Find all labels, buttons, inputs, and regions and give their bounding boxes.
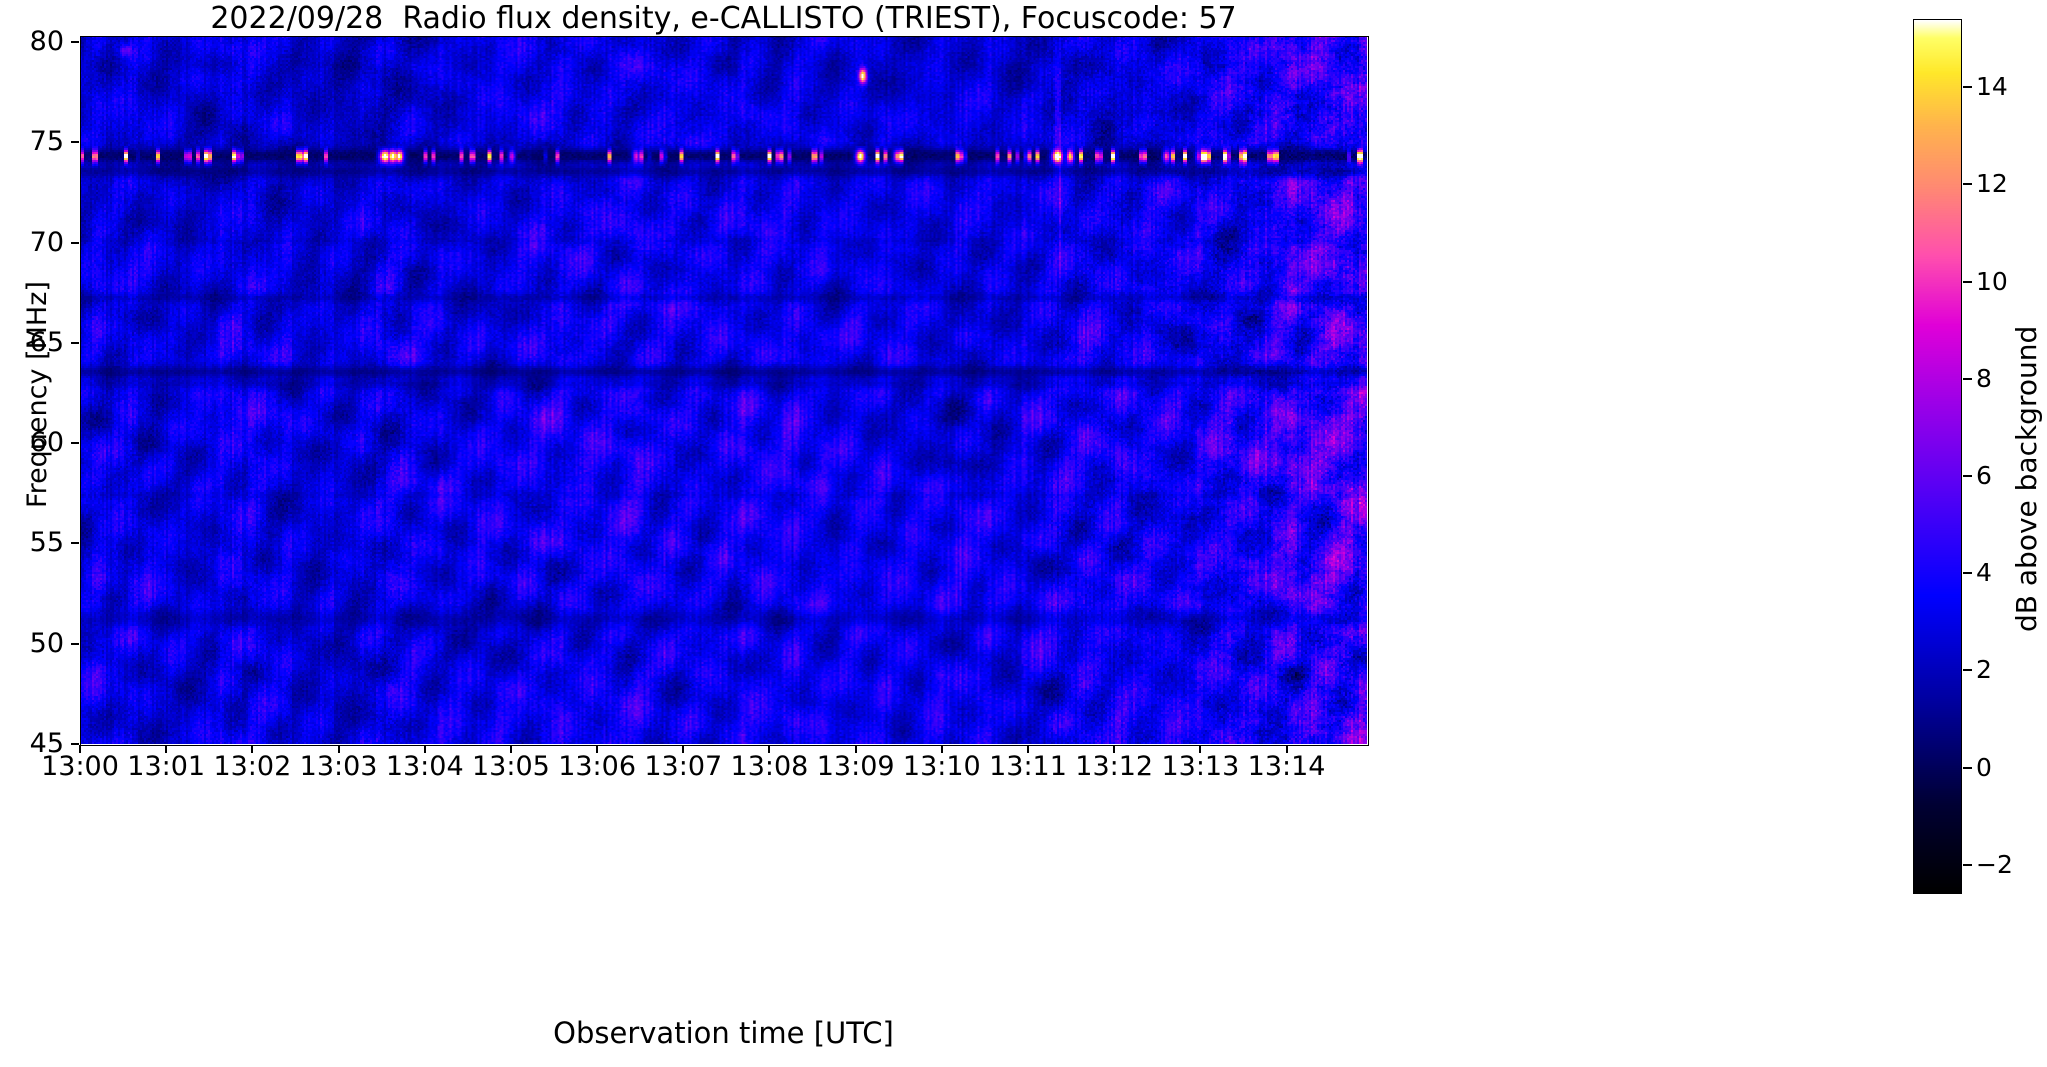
colorbar-tick-label: 12: [1976, 171, 2008, 196]
x-axis-label: Observation time [UTC]: [80, 1016, 1367, 1050]
colorbar-tick-label: −2: [1976, 852, 2013, 877]
y-tick-mark: [71, 141, 79, 143]
colorbar-tick-label: 14: [1976, 74, 2008, 99]
colorbar-tick-label: 0: [1976, 755, 1992, 780]
x-tick-mark: [768, 745, 770, 753]
y-tick-label: 50: [12, 630, 64, 657]
y-tick-mark: [71, 242, 79, 244]
colorbar[interactable]: [1913, 19, 1962, 894]
colorbar-tick-label: 4: [1976, 560, 1992, 585]
colorbar-tick-mark: [1963, 378, 1972, 380]
y-axis-label: Frequency [MHz]: [22, 281, 53, 508]
y-tick-mark: [71, 342, 79, 344]
colorbar-tick-label: 10: [1976, 269, 2008, 294]
x-tick-mark: [165, 745, 167, 753]
y-tick-mark: [71, 442, 79, 444]
x-tick-mark: [1027, 745, 1029, 753]
colorbar-tick-mark: [1963, 864, 1972, 866]
colorbar-tick-mark: [1963, 86, 1972, 88]
x-tick-mark: [596, 745, 598, 753]
x-tick-mark: [1286, 745, 1288, 753]
y-tick-label: 55: [12, 529, 64, 556]
colorbar-tick-mark: [1963, 475, 1972, 477]
colorbar-tick-mark: [1963, 281, 1972, 283]
spectrogram-image[interactable]: [80, 36, 1367, 744]
y-tick-mark: [71, 41, 79, 43]
y-tick-label: 70: [12, 229, 64, 256]
x-tick-mark: [510, 745, 512, 753]
x-tick-label: 13:14: [1227, 752, 1347, 782]
x-tick-mark: [1199, 745, 1201, 753]
x-tick-mark: [79, 745, 81, 753]
y-tick-mark: [71, 743, 79, 745]
colorbar-tick-mark: [1963, 183, 1972, 185]
page-title: 2022/09/28 Radio flux density, e-CALLIST…: [80, 2, 1367, 36]
y-tick-label: 80: [12, 28, 64, 55]
colorbar-tick-label: 2: [1976, 657, 1992, 682]
spectrogram-figure: 2022/09/28 Radio flux density, e-CALLIST…: [0, 0, 2047, 1067]
x-tick-mark: [424, 745, 426, 753]
y-tick-mark: [71, 643, 79, 645]
colorbar-tick-mark: [1963, 669, 1972, 671]
colorbar-tick-label: 6: [1976, 463, 1992, 488]
x-tick-mark: [251, 745, 253, 753]
x-tick-mark: [682, 745, 684, 753]
colorbar-tick-mark: [1963, 572, 1972, 574]
y-tick-label: 75: [12, 128, 64, 155]
colorbar-label: dB above background: [2010, 325, 2043, 631]
x-tick-mark: [338, 745, 340, 753]
colorbar-tick-label: 8: [1976, 366, 1992, 391]
spectrogram-plot-area[interactable]: [80, 36, 1367, 744]
colorbar-tick-mark: [1963, 767, 1972, 769]
y-tick-mark: [71, 542, 79, 544]
colorbar-gradient: [1914, 20, 1961, 893]
x-tick-mark: [941, 745, 943, 753]
x-tick-mark: [855, 745, 857, 753]
x-tick-mark: [1113, 745, 1115, 753]
